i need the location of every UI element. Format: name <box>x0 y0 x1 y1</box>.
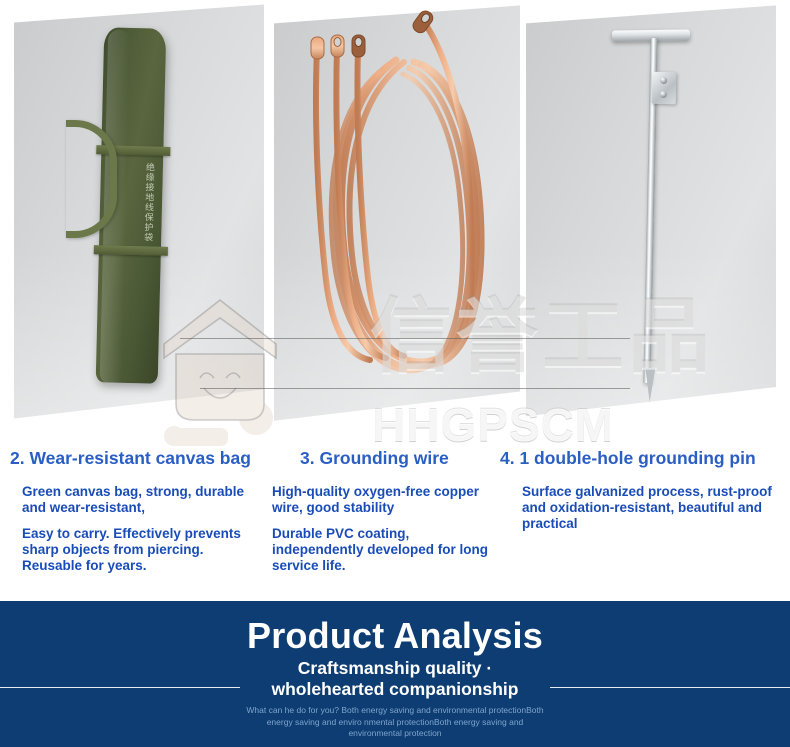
description-text: Surface galvanized process, rust-proof a… <box>522 484 772 532</box>
descriptions-row: Green canvas bag, strong, durable and we… <box>0 484 790 596</box>
product-image-grounding-pin <box>526 0 776 450</box>
copper-wire-illustration <box>274 0 520 450</box>
section-headings-row: 2. Wear-resistant canvas bag 3. Groundin… <box>0 448 790 482</box>
banner-note-text: What can he do for you? Both energy savi… <box>0 705 790 740</box>
wire-ring-terminal <box>311 8 435 59</box>
description-grounding-pin: Surface galvanized process, rust-proof a… <box>522 484 772 542</box>
grounding-pin-hole-lower <box>660 91 667 98</box>
grounding-pin-double-hole-plate <box>652 72 677 104</box>
banner-title: Product Analysis <box>0 615 790 657</box>
banner-subtitle-line-2: wholehearted companionship <box>0 679 790 700</box>
product-analysis-banner: Product Analysis Craftsmanship quality ·… <box>0 601 790 747</box>
product-image-grounding-wire <box>274 0 520 450</box>
heading-grounding-pin: 4. 1 double-hole grounding pin <box>500 448 756 469</box>
description-text: Durable PVC coating, independently devel… <box>272 526 494 574</box>
description-text: Green canvas bag, strong, durable and we… <box>22 484 257 516</box>
description-text: High-quality oxygen-free copper wire, go… <box>272 484 494 516</box>
grounding-pin-tip <box>645 368 656 402</box>
banner-rule-left <box>0 687 240 688</box>
canvas-bag-printed-label: 绝缘接地线保护袋 <box>139 162 155 242</box>
banner-rule-right <box>550 687 790 688</box>
description-text: Easy to carry. Effectively prevents shar… <box>22 526 257 574</box>
grounding-pin-hole-upper <box>660 77 667 84</box>
heading-canvas-bag: 2. Wear-resistant canvas bag <box>10 448 251 469</box>
description-canvas-bag: Green canvas bag, strong, durable and we… <box>22 484 257 584</box>
product-image-canvas-bag: 绝缘接地线保护袋 <box>14 0 264 450</box>
description-grounding-wire: High-quality oxygen-free copper wire, go… <box>272 484 494 584</box>
copper-wire-svg <box>274 0 520 450</box>
canvas-bag-strap-lower <box>94 245 168 256</box>
banner-subtitle-line-1: Craftsmanship quality · <box>0 658 790 679</box>
banner-subtitle: Craftsmanship quality · wholehearted com… <box>0 658 790 700</box>
heading-grounding-wire: 3. Grounding wire <box>300 448 449 469</box>
product-photo-strip: 绝缘接地线保护袋 <box>0 0 790 450</box>
